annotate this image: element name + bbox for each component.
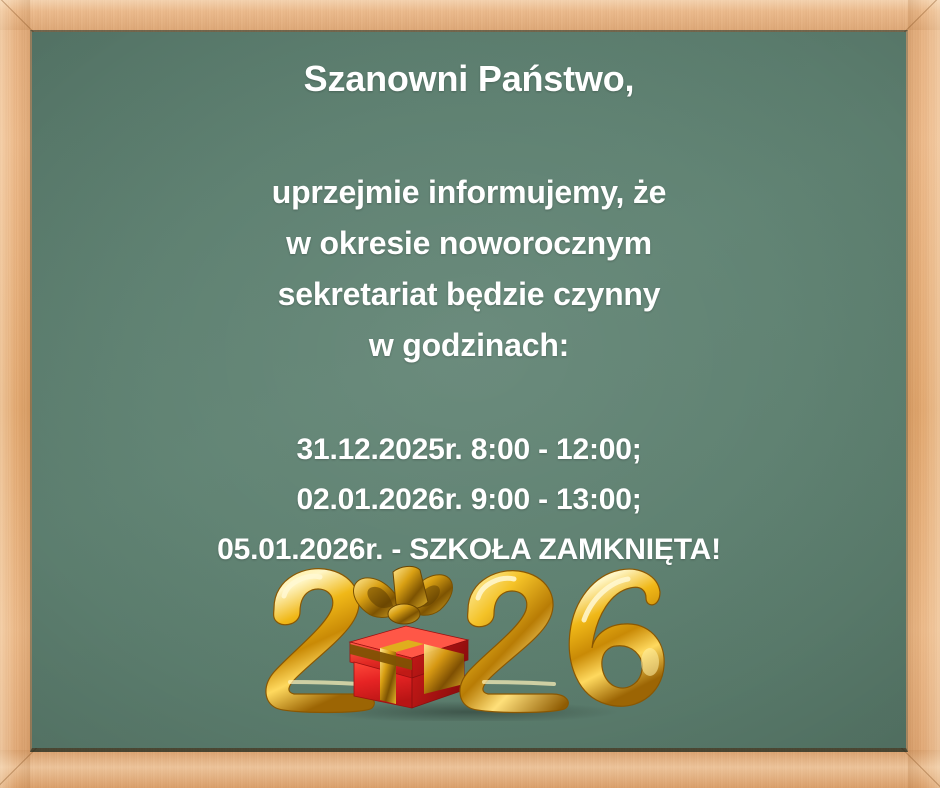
digit-6-specular <box>641 648 659 676</box>
notice-heading: Szanowni Państwo, <box>32 57 906 101</box>
digit-2b-foot-highlight <box>484 682 554 684</box>
digit-2b-body <box>460 571 568 713</box>
notice-body: uprzejmie informujemy, że w okresie nowo… <box>32 167 906 371</box>
digit-6-body <box>569 569 664 706</box>
notice-hours-line: 02.01.2026r. 9:00 - 13:00; <box>32 475 906 525</box>
balloon-digit-2-second <box>460 571 568 713</box>
notice-hours-line: 31.12.2025r. 8:00 - 12:00; <box>32 425 906 475</box>
notice-hours: 31.12.2025r. 8:00 - 12:00; 02.01.2026r. … <box>32 425 906 575</box>
digit-2-foot-highlight <box>290 682 360 684</box>
frame-rail-left <box>0 0 30 788</box>
notice-board-frame: Szanowni Państwo, uprzejmie informujemy,… <box>0 0 940 788</box>
new-year-2026-graphic <box>254 556 684 721</box>
notice-body-line: uprzejmie informujemy, że <box>32 167 906 218</box>
balloon-digit-6 <box>569 569 664 706</box>
notice-body-line: w okresie noworocznym <box>32 218 906 269</box>
gift-box <box>350 566 468 708</box>
bow-center-tail <box>393 566 428 609</box>
balloon-2026-illustration <box>254 556 684 721</box>
board-content: Szanowni Państwo, uprzejmie informujemy,… <box>32 32 906 748</box>
chalkboard-surface: Szanowni Państwo, uprzejmie informujemy,… <box>30 30 908 752</box>
bow-knot <box>388 604 420 624</box>
frame-rail-right <box>908 0 940 788</box>
frame-rail-bottom <box>0 750 940 788</box>
notice-body-line: w godzinach: <box>32 320 906 371</box>
frame-rail-top <box>0 0 940 30</box>
notice-body-line: sekretariat będzie czynny <box>32 269 906 320</box>
